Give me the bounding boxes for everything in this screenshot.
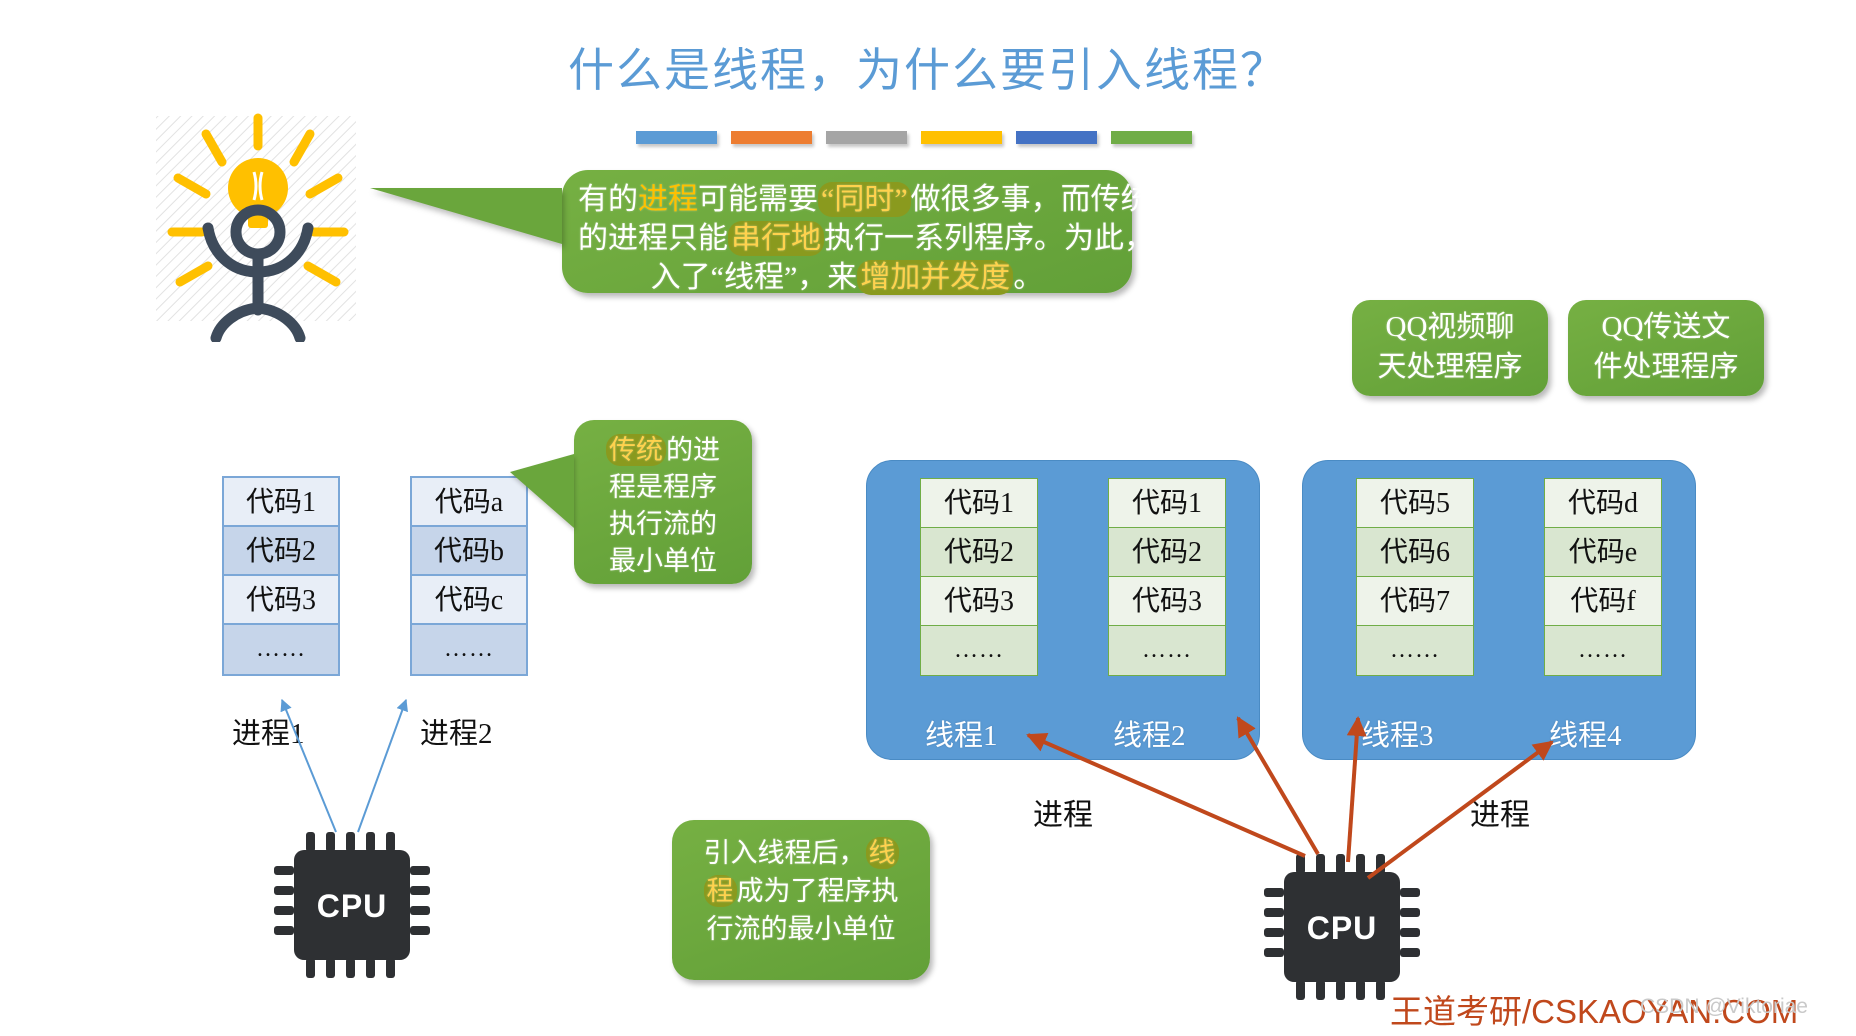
callout-line-2: 的进程只能串行地执行一系列程序。为此，引 <box>578 219 1116 258</box>
qq-file-line-1: QQ传送文 <box>1568 307 1764 347</box>
highlight-process: 进程 <box>638 183 698 216</box>
thread-callout-line-2: 程成为了程序执 <box>680 872 922 910</box>
cpu-pin <box>410 906 430 915</box>
cpu-pin <box>366 958 375 978</box>
cpu-pin <box>274 866 294 875</box>
accent-bar-gray <box>826 131 907 144</box>
code-row: 代码1 <box>1109 479 1225 528</box>
thread-4-label: 线程4 <box>1549 712 1622 754</box>
callout-line-3: 入了“线程”，来增加并发度。 <box>578 258 1116 297</box>
cpu-pin <box>306 958 315 978</box>
arrow-cpu-to-process-2 <box>358 700 406 832</box>
cpu-pin <box>1296 854 1305 874</box>
text-segment: 引入线程后， <box>704 838 866 868</box>
cpu-pin <box>274 886 294 895</box>
thread-callout-line-3: 行流的最小单位 <box>680 910 922 948</box>
callout-qq-file-transfer: QQ传送文 件处理程序 <box>1568 300 1764 396</box>
code-row-ellipsis: …… <box>412 625 526 674</box>
cpu-pin <box>410 866 430 875</box>
highlight-simultaneous: “同时” <box>818 182 911 217</box>
code-row: 代码6 <box>1357 528 1473 577</box>
cpu-pin <box>326 832 335 852</box>
cpu-pin <box>306 832 315 852</box>
code-row: 代码c <box>412 576 526 625</box>
cpu-pin <box>1316 980 1325 1000</box>
code-row: 代码3 <box>224 576 338 625</box>
text-segment: 执行一系列程序。为此，引 <box>824 222 1184 255</box>
trad-line-2: 程是程序 <box>580 469 746 506</box>
cpu-pin <box>1296 980 1305 1000</box>
callout-tail <box>1690 392 1732 474</box>
code-row: 代码5 <box>1357 479 1473 528</box>
idea-person-illustration <box>150 112 370 342</box>
process-left-label: 进程 <box>1033 790 1093 834</box>
text-segment: 的进程只能 <box>578 222 728 255</box>
slide-canvas: 什么是线程，为什么要引入线程？ <box>0 0 1856 1036</box>
code-row: 代码3 <box>1109 577 1225 626</box>
thread-3-label: 线程3 <box>1361 712 1434 754</box>
cpu-pin <box>1376 854 1385 874</box>
trad-line-4: 最小单位 <box>580 543 746 580</box>
thread-2-code-table: 代码1 代码2 代码3 …… <box>1108 478 1226 676</box>
callout-qq-video-chat: QQ视频聊 天处理程序 <box>1352 300 1548 396</box>
callout-thread-smallest-unit: 引入线程后，线 程成为了程序执 行流的最小单位 <box>672 820 930 980</box>
cpu-chip-left: CPU <box>268 830 436 980</box>
code-row: 代码2 <box>921 528 1037 577</box>
cpu-pin <box>1356 980 1365 1000</box>
text-segment: 。 <box>1013 261 1043 294</box>
code-row-ellipsis: …… <box>1357 626 1473 675</box>
code-row: 代码1 <box>224 478 338 527</box>
trad-line-3: 执行流的 <box>580 506 746 543</box>
highlight-serial: 串行地 <box>728 221 824 256</box>
cpu-pin <box>346 958 355 978</box>
cpu-pin <box>1264 928 1284 937</box>
code-row: 代码7 <box>1357 577 1473 626</box>
code-row-ellipsis: …… <box>921 626 1037 675</box>
thread-2-label: 线程2 <box>1113 712 1186 754</box>
cpu-pin <box>366 832 375 852</box>
code-row-ellipsis: …… <box>1545 626 1661 675</box>
text-segment: 做很多事，而传统 <box>911 183 1151 216</box>
qq-video-line-2: 天处理程序 <box>1352 347 1548 387</box>
cpu-pin <box>1264 908 1284 917</box>
cpu-pin <box>1336 854 1345 874</box>
code-row: 代码2 <box>224 527 338 576</box>
callout-tail <box>744 672 840 822</box>
thread-1-label: 线程1 <box>925 712 998 754</box>
cpu-chip-right: CPU <box>1258 852 1426 1002</box>
highlight-thread-1: 线 <box>866 837 899 869</box>
callout-line-1: 有的进程可能需要“同时”做很多事，而传统 <box>578 180 1116 219</box>
cpu-pin <box>1336 980 1345 1000</box>
highlight-concurrency: 增加并发度 <box>857 260 1013 295</box>
cpu-pin <box>1400 908 1420 917</box>
cpu-pin <box>274 926 294 935</box>
cpu-pin <box>1376 980 1385 1000</box>
process-right-label: 进程 <box>1470 790 1530 834</box>
text-segment: 有的 <box>578 183 638 216</box>
cpu-pin <box>1400 948 1420 957</box>
process-2-label: 进程2 <box>420 710 493 752</box>
accent-bar-yellow <box>921 131 1002 144</box>
cpu-pin <box>346 832 355 852</box>
code-row-ellipsis: …… <box>1109 626 1225 675</box>
cpu-pin <box>1264 888 1284 897</box>
text-segment: 入了“线程”，来 <box>651 261 858 294</box>
trad-line-1: 传统的进 <box>580 432 746 469</box>
highlight-traditional: 传统 <box>606 434 666 466</box>
code-row: 代码e <box>1545 528 1661 577</box>
cpu-pin <box>1316 854 1325 874</box>
accent-bar-blue <box>636 131 717 144</box>
highlight-thread-2: 程 <box>704 875 737 907</box>
code-row: 代码f <box>1545 577 1661 626</box>
page-title: 什么是线程，为什么要引入线程？ <box>0 34 1856 100</box>
code-row: 代码1 <box>921 479 1037 528</box>
code-row: 代码a <box>412 478 526 527</box>
callout-why-threads: 有的进程可能需要“同时”做很多事，而传统 的进程只能串行地执行一系列程序。为此，… <box>562 170 1132 293</box>
thread-1-code-table: 代码1 代码2 代码3 …… <box>920 478 1038 676</box>
thread-callout-line-1: 引入线程后，线 <box>680 834 922 872</box>
callout-traditional-process: 传统的进 程是程序 执行流的 最小单位 <box>574 420 752 584</box>
code-row: 代码2 <box>1109 528 1225 577</box>
callout-tail <box>370 188 562 244</box>
callout-tail <box>510 454 574 528</box>
process-1-code-table: 代码1 代码2 代码3 …… <box>222 476 340 676</box>
accent-bar-orange <box>731 131 812 144</box>
code-row: 代码3 <box>921 577 1037 626</box>
code-row: 代码d <box>1545 479 1661 528</box>
qq-file-line-2: 件处理程序 <box>1568 347 1764 387</box>
accent-bar-green <box>1111 131 1192 144</box>
cpu-pin <box>1400 928 1420 937</box>
accent-bar-navy <box>1016 131 1097 144</box>
cpu-pin <box>410 926 430 935</box>
thread-4-code-table: 代码d 代码e 代码f …… <box>1544 478 1662 676</box>
cpu-pin <box>1264 948 1284 957</box>
text-segment: 可能需要 <box>698 183 818 216</box>
qq-video-line-1: QQ视频聊 <box>1352 307 1548 347</box>
cpu-pin <box>326 958 335 978</box>
accent-bar-row <box>636 131 1192 144</box>
text-segment: 的进 <box>666 435 720 465</box>
cpu-pin <box>410 886 430 895</box>
code-row-ellipsis: …… <box>224 625 338 674</box>
csdn-watermark: CSDN @Viktoriae <box>1640 995 1808 1019</box>
process-1-label: 进程1 <box>232 710 305 752</box>
cpu-pin <box>386 832 395 852</box>
cpu-pin <box>1400 888 1420 897</box>
cpu-pin <box>274 906 294 915</box>
code-row: 代码b <box>412 527 526 576</box>
cpu-pin <box>386 958 395 978</box>
cpu-pin <box>1356 854 1365 874</box>
text-segment: 成为了程序执 <box>737 876 899 906</box>
thread-3-code-table: 代码5 代码6 代码7 …… <box>1356 478 1474 676</box>
